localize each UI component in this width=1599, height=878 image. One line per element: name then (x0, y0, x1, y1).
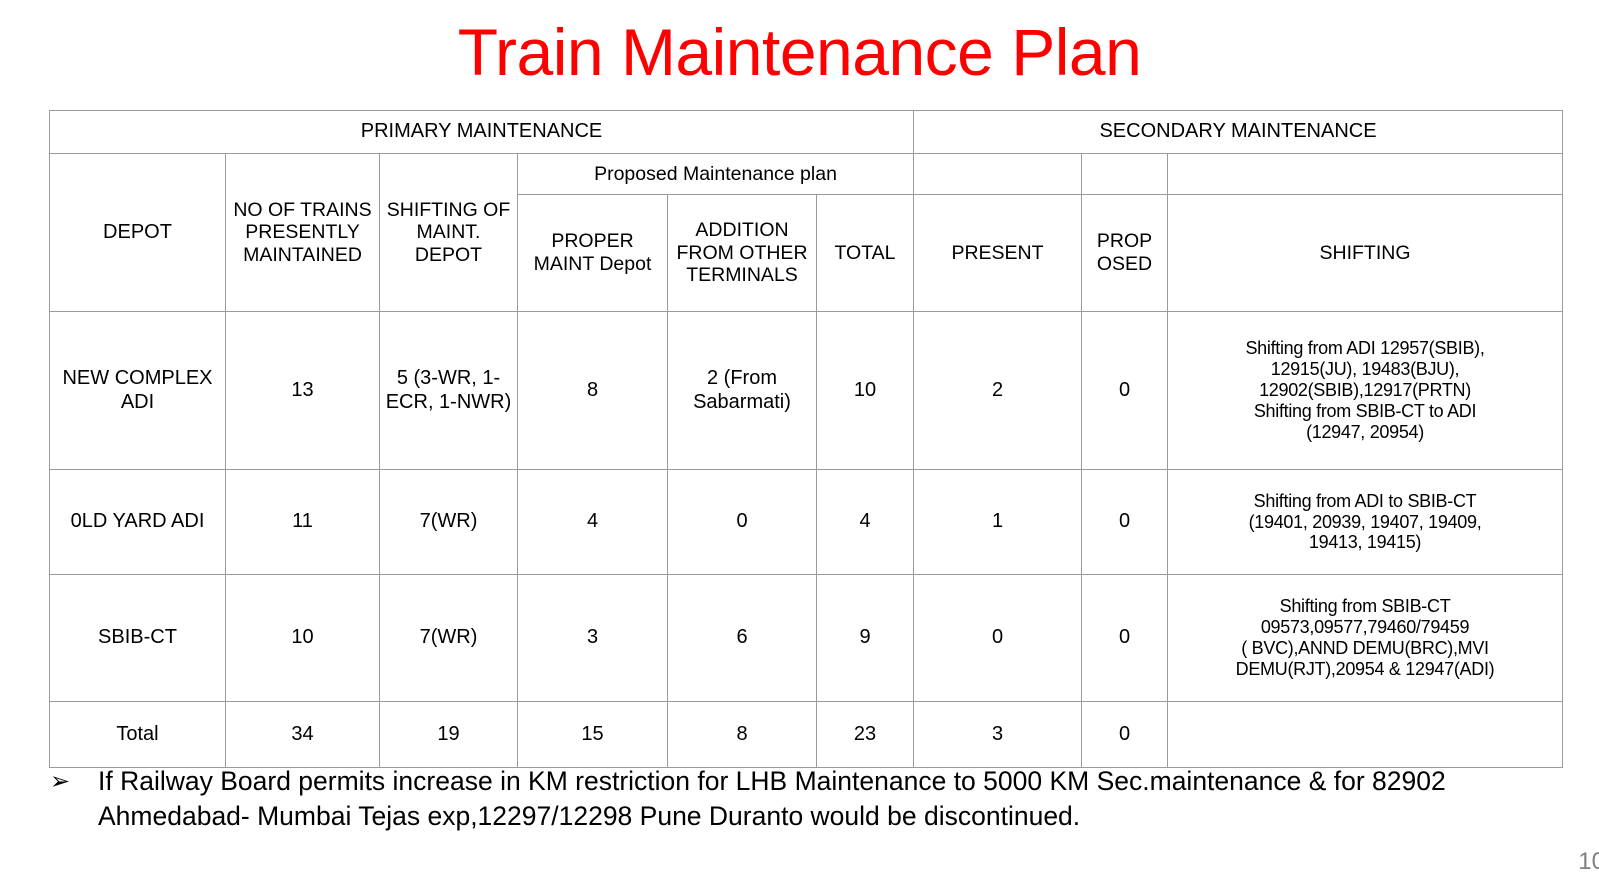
cell-total: 9 (817, 575, 914, 702)
page-title: Train Maintenance Plan (0, 14, 1599, 90)
band-primary-maintenance: PRIMARY MAINTENANCE (50, 111, 914, 154)
table-row-total: Total 34 19 15 8 23 3 0 (50, 702, 1563, 768)
cell-no-of-trains: 11 (226, 470, 380, 575)
table-row: SBIB-CT 10 7(WR) 3 6 9 0 0 Shifting from… (50, 575, 1563, 702)
train-maintenance-table-wrapper: PRIMARY MAINTENANCE SECONDARY MAINTENANC… (49, 110, 1562, 768)
band-secondary-maintenance: SECONDARY MAINTENANCE (914, 111, 1563, 154)
shifting-line: Shifting from SBIB-CT (1171, 596, 1559, 617)
cell-shifting-of-maint-depot: 5 (3-WR, 1-ECR, 1-NWR) (380, 312, 518, 470)
cell-shifting-of-maint-depot: 19 (380, 702, 518, 768)
cell-secondary-proposed: 0 (1082, 312, 1168, 470)
cell-secondary-shifting (1168, 702, 1563, 768)
cell-addition-from-other-terminals: 2 (From Sabarmati) (668, 312, 817, 470)
header-present: PRESENT (914, 195, 1082, 312)
slide-canvas: Train Maintenance Plan PRIMARY MAINTENAN… (0, 0, 1599, 878)
cell-secondary-proposed: 0 (1082, 575, 1168, 702)
shifting-line: Shifting from SBIB-CT to ADI (1171, 401, 1559, 422)
header-shifting-of-maint-depot: SHIFTING OF MAINT. DEPOT (380, 154, 518, 312)
shifting-line: Shifting from ADI to SBIB-CT (1171, 491, 1559, 512)
header-addition-from-other-terminals: ADDITION FROM OTHER TERMINALS (668, 195, 817, 312)
cell-addition-from-other-terminals: 0 (668, 470, 817, 575)
cell-shifting-of-maint-depot: 7(WR) (380, 470, 518, 575)
cell-secondary-present: 2 (914, 312, 1082, 470)
header-depot: DEPOT (50, 154, 226, 312)
cell-secondary-shifting: Shifting from ADI to SBIB-CT(19401, 2093… (1168, 470, 1563, 575)
cell-shifting-of-maint-depot: 7(WR) (380, 575, 518, 702)
table-band-row: PRIMARY MAINTENANCE SECONDARY MAINTENANC… (50, 111, 1563, 154)
table-row: 0LD YARD ADI 11 7(WR) 4 0 4 1 0 Shifting… (50, 470, 1563, 575)
shifting-line: (12947, 20954) (1171, 422, 1559, 443)
bullet-note: ➢ If Railway Board permits increase in K… (46, 764, 1591, 834)
cell-proper-maint-depot: 3 (518, 575, 668, 702)
shifting-line: 19413, 19415) (1171, 532, 1559, 553)
cell-secondary-proposed: 0 (1082, 470, 1168, 575)
cell-total: 23 (817, 702, 914, 768)
cell-depot: SBIB-CT (50, 575, 226, 702)
header-shifting: SHIFTING (1168, 195, 1563, 312)
cell-proper-maint-depot: 8 (518, 312, 668, 470)
cell-secondary-present: 1 (914, 470, 1082, 575)
shifting-line: DEMU(RJT),20954 & 12947(ADI) (1171, 659, 1559, 680)
header-secondary-shifting-spacer (1168, 154, 1563, 195)
shifting-line: 12902(SBIB),12917(PRTN) (1171, 380, 1559, 401)
header-proper-maint-depot: PROPER MAINT Depot (518, 195, 668, 312)
cell-depot: NEW COMPLEX ADI (50, 312, 226, 470)
cell-proper-maint-depot: 15 (518, 702, 668, 768)
cell-depot: 0LD YARD ADI (50, 470, 226, 575)
page-number: 10 (1578, 848, 1599, 876)
cell-no-of-trains: 13 (226, 312, 380, 470)
shifting-line: 12915(JU), 19483(BJU), (1171, 359, 1559, 380)
cell-secondary-present: 0 (914, 575, 1082, 702)
cell-addition-from-other-terminals: 8 (668, 702, 817, 768)
cell-no-of-trains: 10 (226, 575, 380, 702)
cell-secondary-present: 3 (914, 702, 1082, 768)
shifting-line: Shifting from ADI 12957(SBIB), (1171, 338, 1559, 359)
shifting-line: ( BVC),ANND DEMU(BRC),MVI (1171, 638, 1559, 659)
bullet-arrow-icon: ➢ (50, 764, 70, 799)
bullet-note-text: If Railway Board permits increase in KM … (98, 764, 1591, 834)
cell-proper-maint-depot: 4 (518, 470, 668, 575)
cell-depot: Total (50, 702, 226, 768)
header-proposed-maintenance-plan: Proposed Maintenance plan (518, 154, 914, 195)
cell-total: 10 (817, 312, 914, 470)
shifting-line: (19401, 20939, 19407, 19409, (1171, 512, 1559, 533)
header-secondary-present-spacer (914, 154, 1082, 195)
cell-secondary-shifting: Shifting from SBIB-CT09573,09577,79460/7… (1168, 575, 1563, 702)
cell-addition-from-other-terminals: 6 (668, 575, 817, 702)
cell-no-of-trains: 34 (226, 702, 380, 768)
cell-secondary-shifting: Shifting from ADI 12957(SBIB),12915(JU),… (1168, 312, 1563, 470)
header-total: TOTAL (817, 195, 914, 312)
cell-secondary-proposed: 0 (1082, 702, 1168, 768)
header-no-of-trains-presently-maintained: NO OF TRAINS PRESENTLY MAINTAINED (226, 154, 380, 312)
table-row: NEW COMPLEX ADI 13 5 (3-WR, 1-ECR, 1-NWR… (50, 312, 1563, 470)
shifting-line: 09573,09577,79460/79459 (1171, 617, 1559, 638)
table-header-row-1: DEPOT NO OF TRAINS PRESENTLY MAINTAINED … (50, 154, 1563, 195)
header-proposed: PROP OSED (1082, 195, 1168, 312)
train-maintenance-table: PRIMARY MAINTENANCE SECONDARY MAINTENANC… (49, 110, 1563, 768)
header-secondary-proposed-spacer (1082, 154, 1168, 195)
cell-total: 4 (817, 470, 914, 575)
